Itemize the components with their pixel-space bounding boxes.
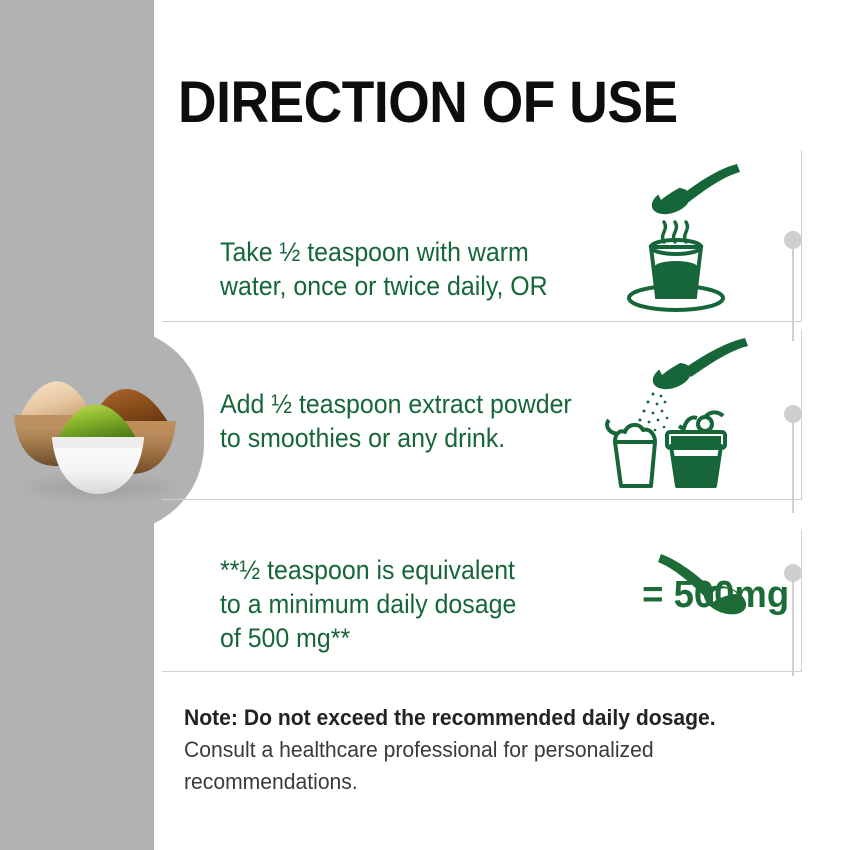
equivalence-label: = 500mg [642, 574, 789, 617]
page-title: DIRECTION OF USE [178, 74, 678, 132]
direction-card-3-text: **½ teaspoon is equivalent to a minimum … [220, 554, 516, 656]
footer-note-bold: Note: Do not exceed the recommended dail… [184, 705, 716, 730]
spoon-over-steaming-glass-icon [609, 154, 749, 319]
direction-card-2-text: Add ½ teaspoon extract powder to smoothi… [220, 388, 572, 456]
footer-note: Note: Do not exceed the recommended dail… [184, 702, 785, 798]
footer-note-rest: Consult a healthcare professional for pe… [184, 737, 654, 794]
direction-card-1: Take ½ teaspoon with warm water, once or… [162, 150, 802, 322]
direction-card-2: Add ½ teaspoon extract powder to smoothi… [162, 330, 802, 500]
main-content: DIRECTION OF USE Take ½ teaspoon with wa… [154, 0, 850, 850]
spoon-sprinkling-smoothies-icon [605, 334, 755, 499]
direction-card-3: **½ teaspoon is equivalent to a minimum … [162, 530, 802, 672]
direction-card-1-text: Take ½ teaspoon with warm water, once or… [220, 236, 548, 304]
powder-bowls-image [0, 360, 200, 510]
